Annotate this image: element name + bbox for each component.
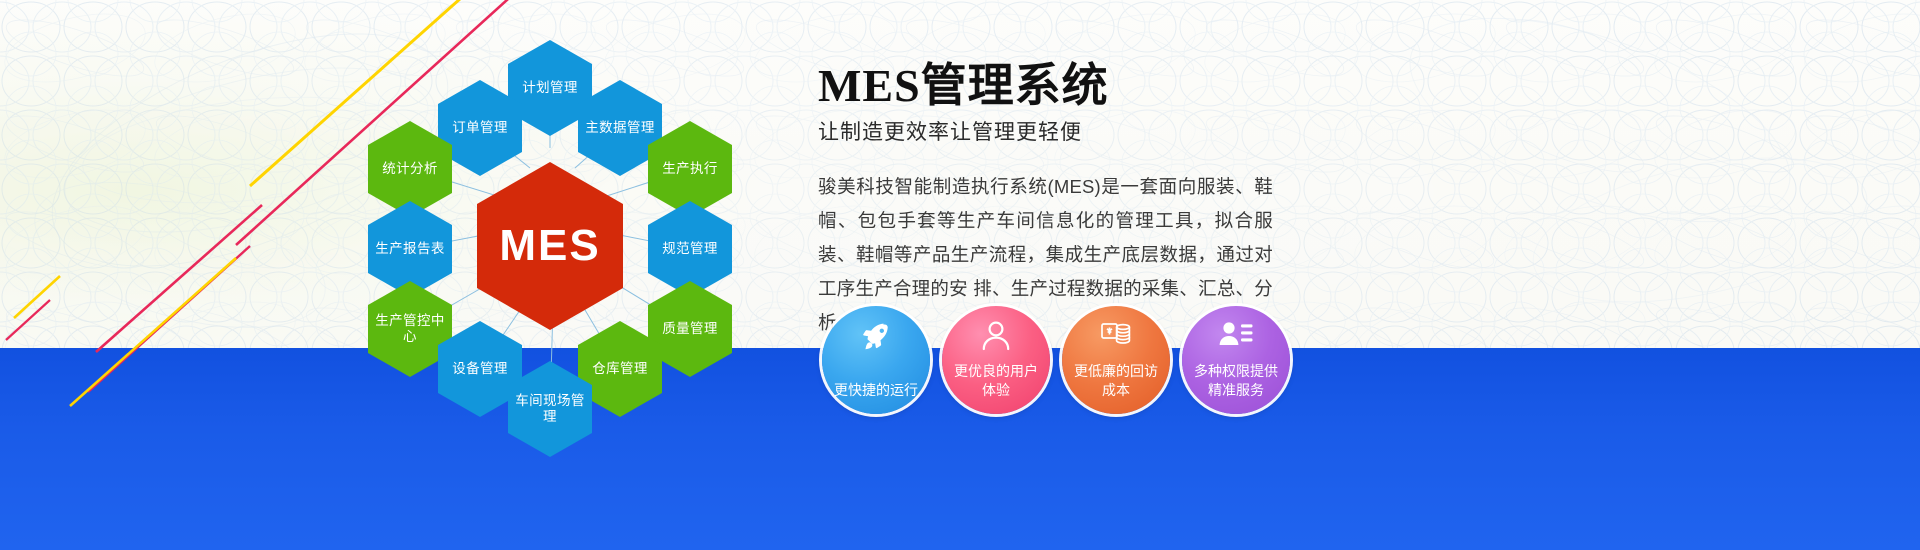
mes-module-diagram: MES 计划管理订单管理主数据管理统计分析生产执行生产报告表规范管理生产管控中心… [330, 18, 790, 438]
diagram-node-label: 质量管理 [658, 321, 722, 337]
user-icon [979, 319, 1013, 358]
diagram-node-label: 统计分析 [378, 161, 442, 177]
diagram-node-label: 生产管控中心 [368, 313, 452, 345]
page-title: MES管理系统 [818, 58, 1838, 114]
page-subtitle: 让制造更效率让管理更轻便 [818, 118, 1838, 148]
diagram-node-label: 订单管理 [448, 120, 512, 136]
feature-badge-lower-cost[interactable]: 更低廉的回访成本 [1062, 306, 1170, 414]
rocket-icon [859, 319, 893, 358]
diagram-node-label: 生产报告表 [371, 241, 449, 257]
feature-badge-label: 多种权限提供精准服务 [1182, 362, 1290, 400]
diagram-node-label: 生产执行 [658, 161, 722, 177]
diagram-center-label: MES [495, 238, 604, 254]
hero-copy: MES管理系统 让制造更效率让管理更轻便 骏美科技智能制造执行系统(MES)是一… [818, 58, 1838, 340]
feature-badge-faster-operation[interactable]: 更快捷的运行 [822, 306, 930, 414]
mes-hero-banner: MES 计划管理订单管理主数据管理统计分析生产执行生产报告表规范管理生产管控中心… [0, 0, 1920, 550]
diagram-node-label: 车间现场管理 [508, 393, 592, 425]
diagram-node-label: 设备管理 [448, 361, 512, 377]
feature-badge-permissions[interactable]: 多种权限提供精准服务 [1182, 306, 1290, 414]
user-list-icon [1218, 319, 1254, 358]
coins-icon [1099, 319, 1133, 358]
diagram-node-label: 主数据管理 [581, 120, 659, 136]
feature-badge-list: 更快捷的运行 更优良的用户体验 [822, 306, 1290, 414]
diagram-node-label: 仓库管理 [588, 361, 652, 377]
feature-badge-label: 更低廉的回访成本 [1062, 362, 1170, 400]
diagram-node-label: 计划管理 [518, 80, 582, 96]
feature-badge-label: 更优良的用户体验 [942, 362, 1050, 400]
feature-badge-better-experience[interactable]: 更优良的用户体验 [942, 306, 1050, 414]
feature-badge-label: 更快捷的运行 [828, 381, 924, 400]
diagram-node-label: 规范管理 [658, 241, 722, 257]
